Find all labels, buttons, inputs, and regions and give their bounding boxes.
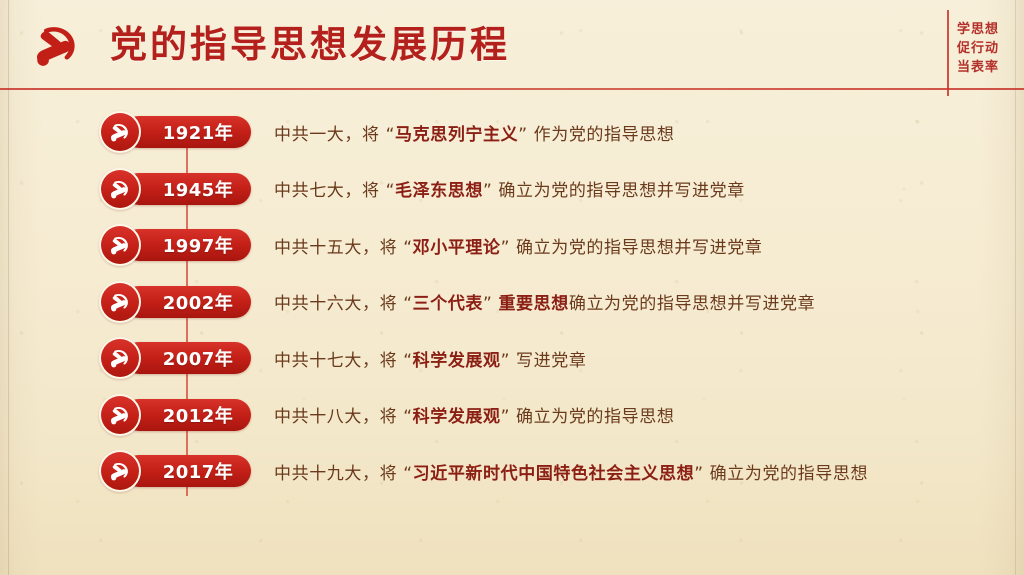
timeline-row-text: 中共十七大，将 “科学发展观” 写进党章 xyxy=(274,346,586,371)
year-label: 2012年 xyxy=(163,402,234,428)
highlight-phrase: 习近平新时代中国特色社会主义思想 xyxy=(413,464,695,484)
timeline-row: 2002年中共十六大，将 “三个代表” 重要思想确立为党的指导思想并写进党章 xyxy=(0,274,1024,331)
timeline-row: 2017年中共十九大，将 “习近平新时代中国特色社会主义思想” 确立为党的指导思… xyxy=(0,443,1024,500)
year-badge[interactable]: 2002年 xyxy=(99,284,251,320)
party-emblem-icon xyxy=(99,450,141,492)
body-phrase: 中共七大，将 “ xyxy=(274,181,395,201)
party-emblem-disc xyxy=(101,339,139,377)
slide-canvas: 党的指导思想发展历程 学思想 促行动 当表率 1921年中共一大，将 “马克思列… xyxy=(0,0,1024,575)
party-emblem-disc xyxy=(101,452,139,490)
body-phrase: 中共十六大，将 “ xyxy=(274,294,413,314)
highlight-phrase: 马克思列宁主义 xyxy=(395,125,518,145)
timeline-row: 1997年中共十五大，将 “邓小平理论” 确立为党的指导思想并写进党章 xyxy=(0,217,1024,274)
year-pill: 1945年 xyxy=(123,173,251,205)
party-emblem-icon xyxy=(99,281,141,323)
body-phrase: ” 确立为党的指导思想 xyxy=(501,407,675,427)
timeline-row: 1921年中共一大，将 “马克思列宁主义” 作为党的指导思想 xyxy=(0,104,1024,161)
timeline-row-text: 中共十六大，将 “三个代表” 重要思想确立为党的指导思想并写进党章 xyxy=(274,289,815,314)
timeline-row-text: 中共一大，将 “马克思列宁主义” 作为党的指导思想 xyxy=(274,120,674,145)
timeline-row-text: 中共十五大，将 “邓小平理论” 确立为党的指导思想并写进党章 xyxy=(274,233,762,258)
body-phrase: 中共十九大，将 “ xyxy=(274,464,413,484)
body-phrase: 中共一大，将 “ xyxy=(274,125,395,145)
party-emblem-icon xyxy=(99,111,141,153)
year-badge[interactable]: 1945年 xyxy=(99,171,251,207)
party-emblem-disc xyxy=(101,170,139,208)
body-phrase: ” 作为党的指导思想 xyxy=(518,125,674,145)
year-label: 1921年 xyxy=(163,119,234,145)
timeline-row-text: 中共十八大，将 “科学发展观” 确立为党的指导思想 xyxy=(274,402,674,427)
body-phrase: ” 确立为党的指导思想并写进党章 xyxy=(501,238,763,258)
year-label: 2017年 xyxy=(163,458,234,484)
year-pill: 1997年 xyxy=(123,229,251,261)
highlight-phrase: 邓小平理论 xyxy=(413,238,501,258)
body-phrase: 中共十五大，将 “ xyxy=(274,238,413,258)
year-badge[interactable]: 2007年 xyxy=(99,340,251,376)
highlight-phrase: 科学发展观 xyxy=(413,407,501,427)
timeline-row: 1945年中共七大，将 “毛泽东思想” 确立为党的指导思想并写进党章 xyxy=(0,161,1024,218)
header-divider-rule xyxy=(0,88,1024,90)
year-label: 2002年 xyxy=(163,289,234,315)
highlight-phrase: 重要思想 xyxy=(498,294,568,314)
party-emblem-icon xyxy=(99,337,141,379)
timeline-row: 2012年中共十八大，将 “科学发展观” 确立为党的指导思想 xyxy=(0,387,1024,444)
party-emblem-icon xyxy=(99,394,141,436)
year-pill: 2012年 xyxy=(123,399,251,431)
body-phrase: 中共十七大，将 “ xyxy=(274,351,413,371)
year-badge[interactable]: 1921年 xyxy=(99,114,251,150)
slogan-line-3: 当表率 xyxy=(957,58,999,77)
timeline-row-text: 中共十九大，将 “习近平新时代中国特色社会主义思想” 确立为党的指导思想 xyxy=(274,459,868,484)
timeline-rows: 1921年中共一大，将 “马克思列宁主义” 作为党的指导思想1945年中共七大，… xyxy=(0,104,1024,500)
body-phrase: 确立为党的指导思想并写进党章 xyxy=(569,294,815,314)
body-phrase: ” xyxy=(483,294,498,314)
year-badge[interactable]: 2012年 xyxy=(99,397,251,433)
party-emblem-icon xyxy=(99,168,141,210)
timeline-row-text: 中共七大，将 “毛泽东思想” 确立为党的指导思想并写进党章 xyxy=(274,176,745,201)
party-emblem-icon xyxy=(99,224,141,266)
year-pill: 2007年 xyxy=(123,342,251,374)
year-pill: 2002年 xyxy=(123,286,251,318)
timeline: 1921年中共一大，将 “马克思列宁主义” 作为党的指导思想1945年中共七大，… xyxy=(0,104,1024,514)
year-pill: 1921年 xyxy=(123,116,251,148)
highlight-phrase: 三个代表 xyxy=(413,294,483,314)
slogan-line-1: 学思想 xyxy=(957,20,999,39)
header-vertical-rule xyxy=(947,10,949,96)
slogan-block: 学思想 促行动 当表率 xyxy=(957,20,999,77)
year-badge[interactable]: 2017年 xyxy=(99,453,251,489)
slide-header: 党的指导思想发展历程 学思想 促行动 当表率 xyxy=(0,0,1024,100)
body-phrase: ” 确立为党的指导思想 xyxy=(694,464,868,484)
slogan-line-2: 促行动 xyxy=(957,39,999,58)
party-emblem-disc xyxy=(101,283,139,321)
page-title: 党的指导思想发展历程 xyxy=(110,14,510,68)
year-badge[interactable]: 1997年 xyxy=(99,227,251,263)
timeline-row: 2007年中共十七大，将 “科学发展观” 写进党章 xyxy=(0,330,1024,387)
party-emblem-disc xyxy=(101,226,139,264)
party-emblem-disc xyxy=(101,113,139,151)
party-emblem-disc xyxy=(101,396,139,434)
body-phrase: ” 写进党章 xyxy=(501,351,587,371)
highlight-phrase: 毛泽东思想 xyxy=(395,181,483,201)
year-pill: 2017年 xyxy=(123,455,251,487)
year-label: 1945年 xyxy=(163,176,234,202)
year-label: 1997年 xyxy=(163,232,234,258)
body-phrase: ” 确立为党的指导思想并写进党章 xyxy=(483,181,745,201)
highlight-phrase: 科学发展观 xyxy=(413,351,501,371)
party-emblem-icon xyxy=(26,16,88,74)
year-label: 2007年 xyxy=(163,345,234,371)
body-phrase: 中共十八大，将 “ xyxy=(274,407,413,427)
